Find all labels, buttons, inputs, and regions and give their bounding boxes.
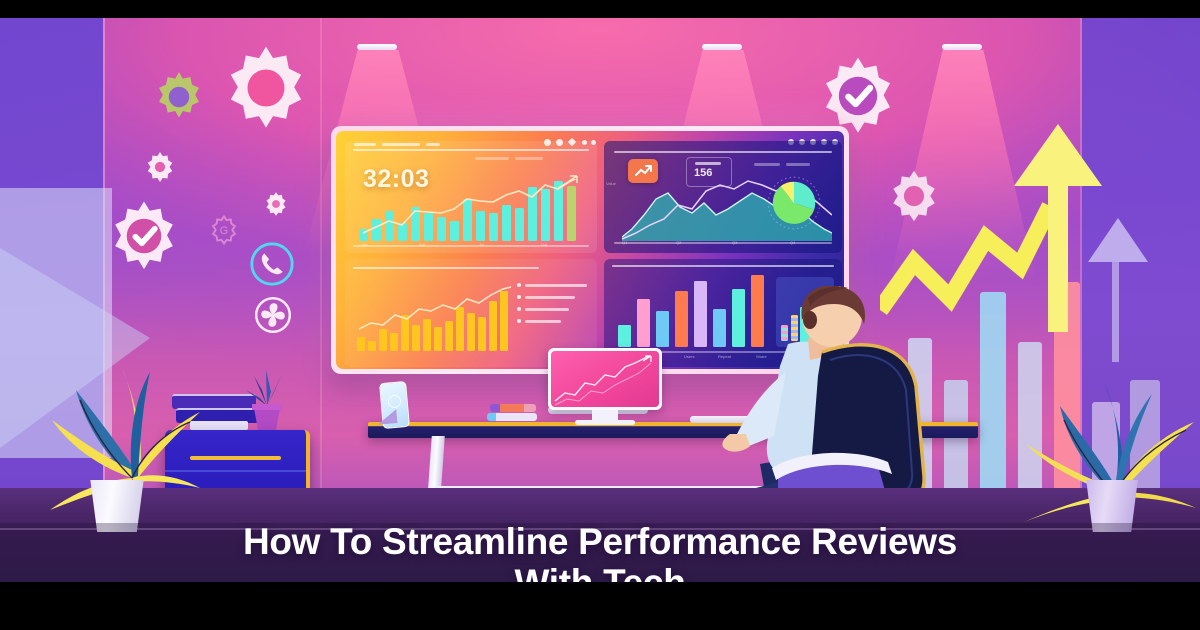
panel-bottom-rule: [614, 242, 832, 244]
poster-canvas: G: [0, 0, 1200, 630]
panel-top-rule: [353, 149, 589, 151]
gear-olive: [152, 70, 206, 124]
list-bullet: [517, 319, 521, 323]
spotlight-bar-right: [942, 44, 982, 50]
secondary-monitor[interactable]: [548, 348, 662, 410]
yellow-bar-chart: [357, 285, 505, 351]
gear-outline-mid-icon: G: [208, 214, 240, 246]
list-bullet: [517, 307, 521, 311]
list-row-line: [525, 320, 561, 323]
timer-bar-chart: [359, 179, 587, 241]
gear-right-lower-icon: [886, 168, 942, 224]
x-tick: Jul: [479, 242, 484, 247]
gear-check-left-icon: [108, 200, 180, 272]
panel-label-a: [475, 157, 509, 160]
yellow-overlay-line: [357, 285, 513, 351]
pie-chart: [766, 175, 822, 231]
panel-label-b: [515, 157, 543, 160]
bar: [656, 311, 669, 347]
cabinet-plant: [244, 360, 290, 432]
gear-tiny-right-icon: [262, 190, 290, 218]
panel-area-pie[interactable]: 156 Q1: [604, 141, 842, 253]
list-bullet: [517, 295, 521, 299]
bar: [675, 291, 688, 347]
panel-top-rule: [353, 267, 539, 269]
illustration-scene: G: [0, 18, 1200, 582]
list-row-line: [525, 308, 569, 311]
bar: [637, 299, 650, 347]
bar: [618, 325, 631, 347]
x-tick: Jan: [361, 242, 367, 247]
panel-timer-bars[interactable]: 32:03: [345, 141, 597, 253]
list-row-line: [525, 296, 575, 299]
desk-book-top: [490, 404, 536, 412]
letterbox-bottom: [0, 582, 1200, 630]
desk-book-bottom: [487, 413, 537, 421]
phone-icon: [248, 240, 296, 288]
x-tick: Q2: [676, 240, 681, 245]
page-title-line-2: With Tech: [0, 562, 1200, 582]
x-tick: Q1: [622, 240, 627, 245]
gear-large-pink: [222, 44, 310, 132]
x-tick: Q3: [732, 240, 737, 245]
secondary-monitor-base: [575, 420, 635, 425]
x-tick: Oct: [541, 242, 547, 247]
y-axis-label: Value: [606, 181, 616, 186]
list-row-line: [525, 284, 587, 287]
propeller-icon: [252, 294, 294, 336]
timer-overlay-line: [359, 179, 587, 241]
spotlight-bar-left: [357, 44, 397, 50]
timer-trend-arrow-icon: [555, 173, 581, 193]
svg-text:G: G: [220, 225, 228, 237]
panel-bottom-rule: [353, 245, 589, 247]
list-bullet: [517, 283, 521, 287]
panel-top-rule: [612, 265, 834, 267]
letterbox-top: [0, 0, 1200, 18]
x-tick: Apr: [419, 242, 425, 247]
gear-check-right-icon: [818, 56, 898, 136]
page-title: How To Streamline Performance Reviews Wi…: [0, 521, 1200, 582]
secondary-line-chart: [551, 351, 659, 407]
gear-small-white: [143, 150, 177, 184]
secondary-monitor-screen[interactable]: [551, 351, 659, 407]
spotlight-bar-center: [702, 44, 742, 50]
panel-top-rule: [614, 151, 832, 153]
x-tick: Q4: [790, 240, 795, 245]
page-title-line-1: How To Streamline Performance Reviews: [0, 521, 1200, 562]
